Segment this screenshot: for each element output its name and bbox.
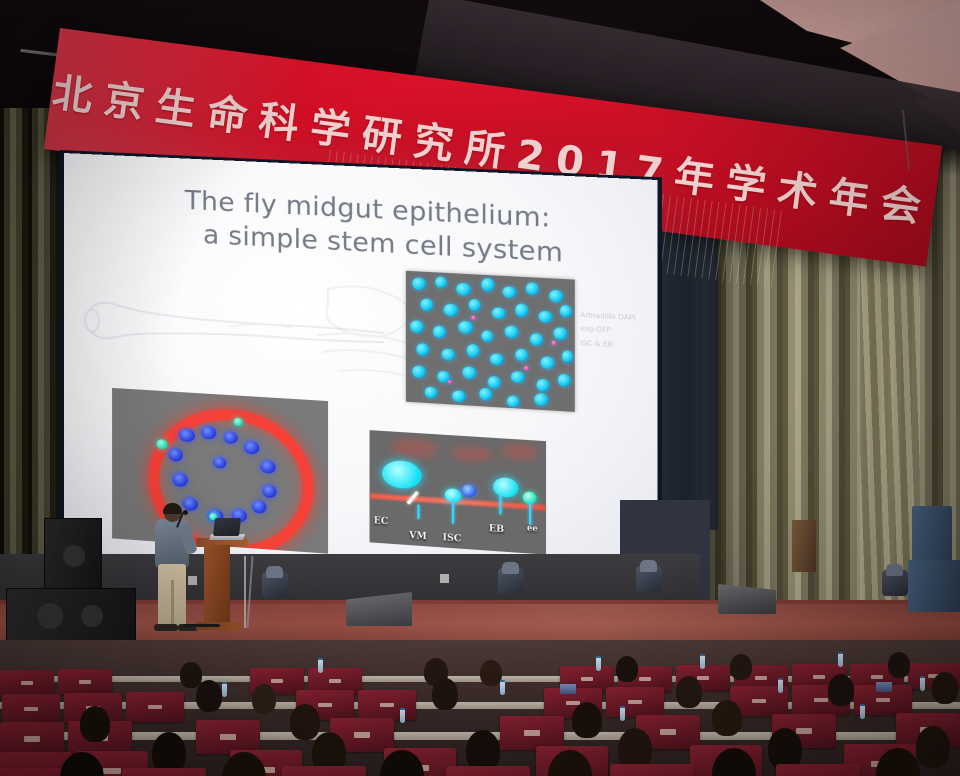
enteroblast-cell [493, 477, 518, 498]
label-vm: VM [409, 531, 427, 542]
audience-head [828, 674, 854, 706]
floor-cable [184, 624, 220, 627]
water-bottle[interactable] [838, 652, 843, 667]
wall-outlet-2 [188, 576, 197, 585]
seat[interactable] [446, 766, 530, 776]
audience-head [252, 684, 276, 714]
amplifier-rack-lower [908, 560, 960, 612]
audience-head [290, 704, 320, 740]
label-ec: EC [374, 516, 389, 527]
water-bottle[interactable] [700, 654, 705, 669]
projection-screen: The fly midgut epithelium: a simple stem… [64, 153, 657, 598]
audience-head [480, 660, 502, 686]
audience-head [676, 676, 702, 708]
vm-arrow [417, 505, 419, 519]
speaker-leg-gap [171, 580, 174, 626]
audience-head [888, 652, 910, 678]
label-eb: EB [489, 524, 504, 535]
audience-head [730, 654, 752, 680]
moving-head-light-4 [882, 570, 908, 596]
moving-head-light-1 [262, 572, 288, 598]
label-ee: ee [527, 522, 538, 533]
podium-stand-leg-1 [244, 556, 246, 628]
eb-arrow [499, 496, 501, 515]
water-bottle[interactable] [222, 682, 227, 697]
podium-body [204, 545, 230, 627]
seat[interactable] [58, 669, 112, 695]
seat[interactable] [282, 766, 366, 776]
audience-laptop[interactable] [560, 684, 576, 694]
side-table [792, 520, 816, 572]
water-bottle[interactable] [500, 680, 505, 695]
micrograph-epithelium-labelled: EC VM ISC EB ee [370, 430, 547, 555]
audience-head [572, 702, 602, 738]
isc-arrow [452, 499, 454, 524]
seat[interactable] [776, 764, 860, 776]
audience-head [712, 700, 742, 736]
wall-outlet-1 [440, 574, 449, 583]
ee-arrow [529, 502, 531, 525]
intestinal-stem-cell-2 [461, 484, 476, 497]
speaker-hair [163, 503, 182, 514]
seat[interactable] [2, 694, 60, 724]
water-bottle[interactable] [860, 704, 865, 719]
moving-head-light-3 [636, 566, 662, 592]
audience-head [932, 672, 958, 704]
label-isc: ISC [443, 533, 462, 545]
audience-head [616, 656, 638, 682]
audience-head [916, 726, 950, 768]
speaker-shoe-left [154, 624, 178, 631]
auditorium-scene: 北京生命科学研究所2017年学术年会 The fly midgut epithe… [0, 0, 960, 776]
audience-head [80, 706, 110, 742]
water-bottle[interactable] [778, 678, 783, 693]
seat[interactable] [0, 670, 54, 696]
seat[interactable] [126, 692, 184, 722]
water-bottle[interactable] [596, 656, 601, 671]
micrograph-nuclei-field [406, 271, 575, 412]
water-bottle[interactable] [400, 708, 405, 723]
seat[interactable] [358, 690, 416, 720]
seat[interactable] [196, 720, 260, 754]
seat[interactable] [500, 716, 564, 750]
speaker-stack-bottom [6, 588, 136, 646]
laptop-screen[interactable] [213, 518, 241, 536]
enterocyte-cell [382, 459, 422, 489]
microphone-icon [183, 510, 188, 515]
moving-head-light-2 [498, 568, 524, 594]
audience-seating-area [0, 640, 960, 776]
water-bottle[interactable] [920, 676, 925, 691]
seat[interactable] [0, 722, 64, 756]
seat[interactable] [606, 687, 664, 717]
audience-head [432, 678, 458, 710]
audience-head [196, 680, 222, 712]
micrograph-legend: Armadillo DAPI esg-GFP ISC & EB [580, 309, 657, 355]
water-bottle[interactable] [318, 658, 323, 673]
water-bottle[interactable] [620, 706, 625, 721]
seat[interactable] [122, 768, 206, 776]
seat[interactable] [610, 764, 694, 776]
audience-laptop[interactable] [876, 682, 892, 692]
